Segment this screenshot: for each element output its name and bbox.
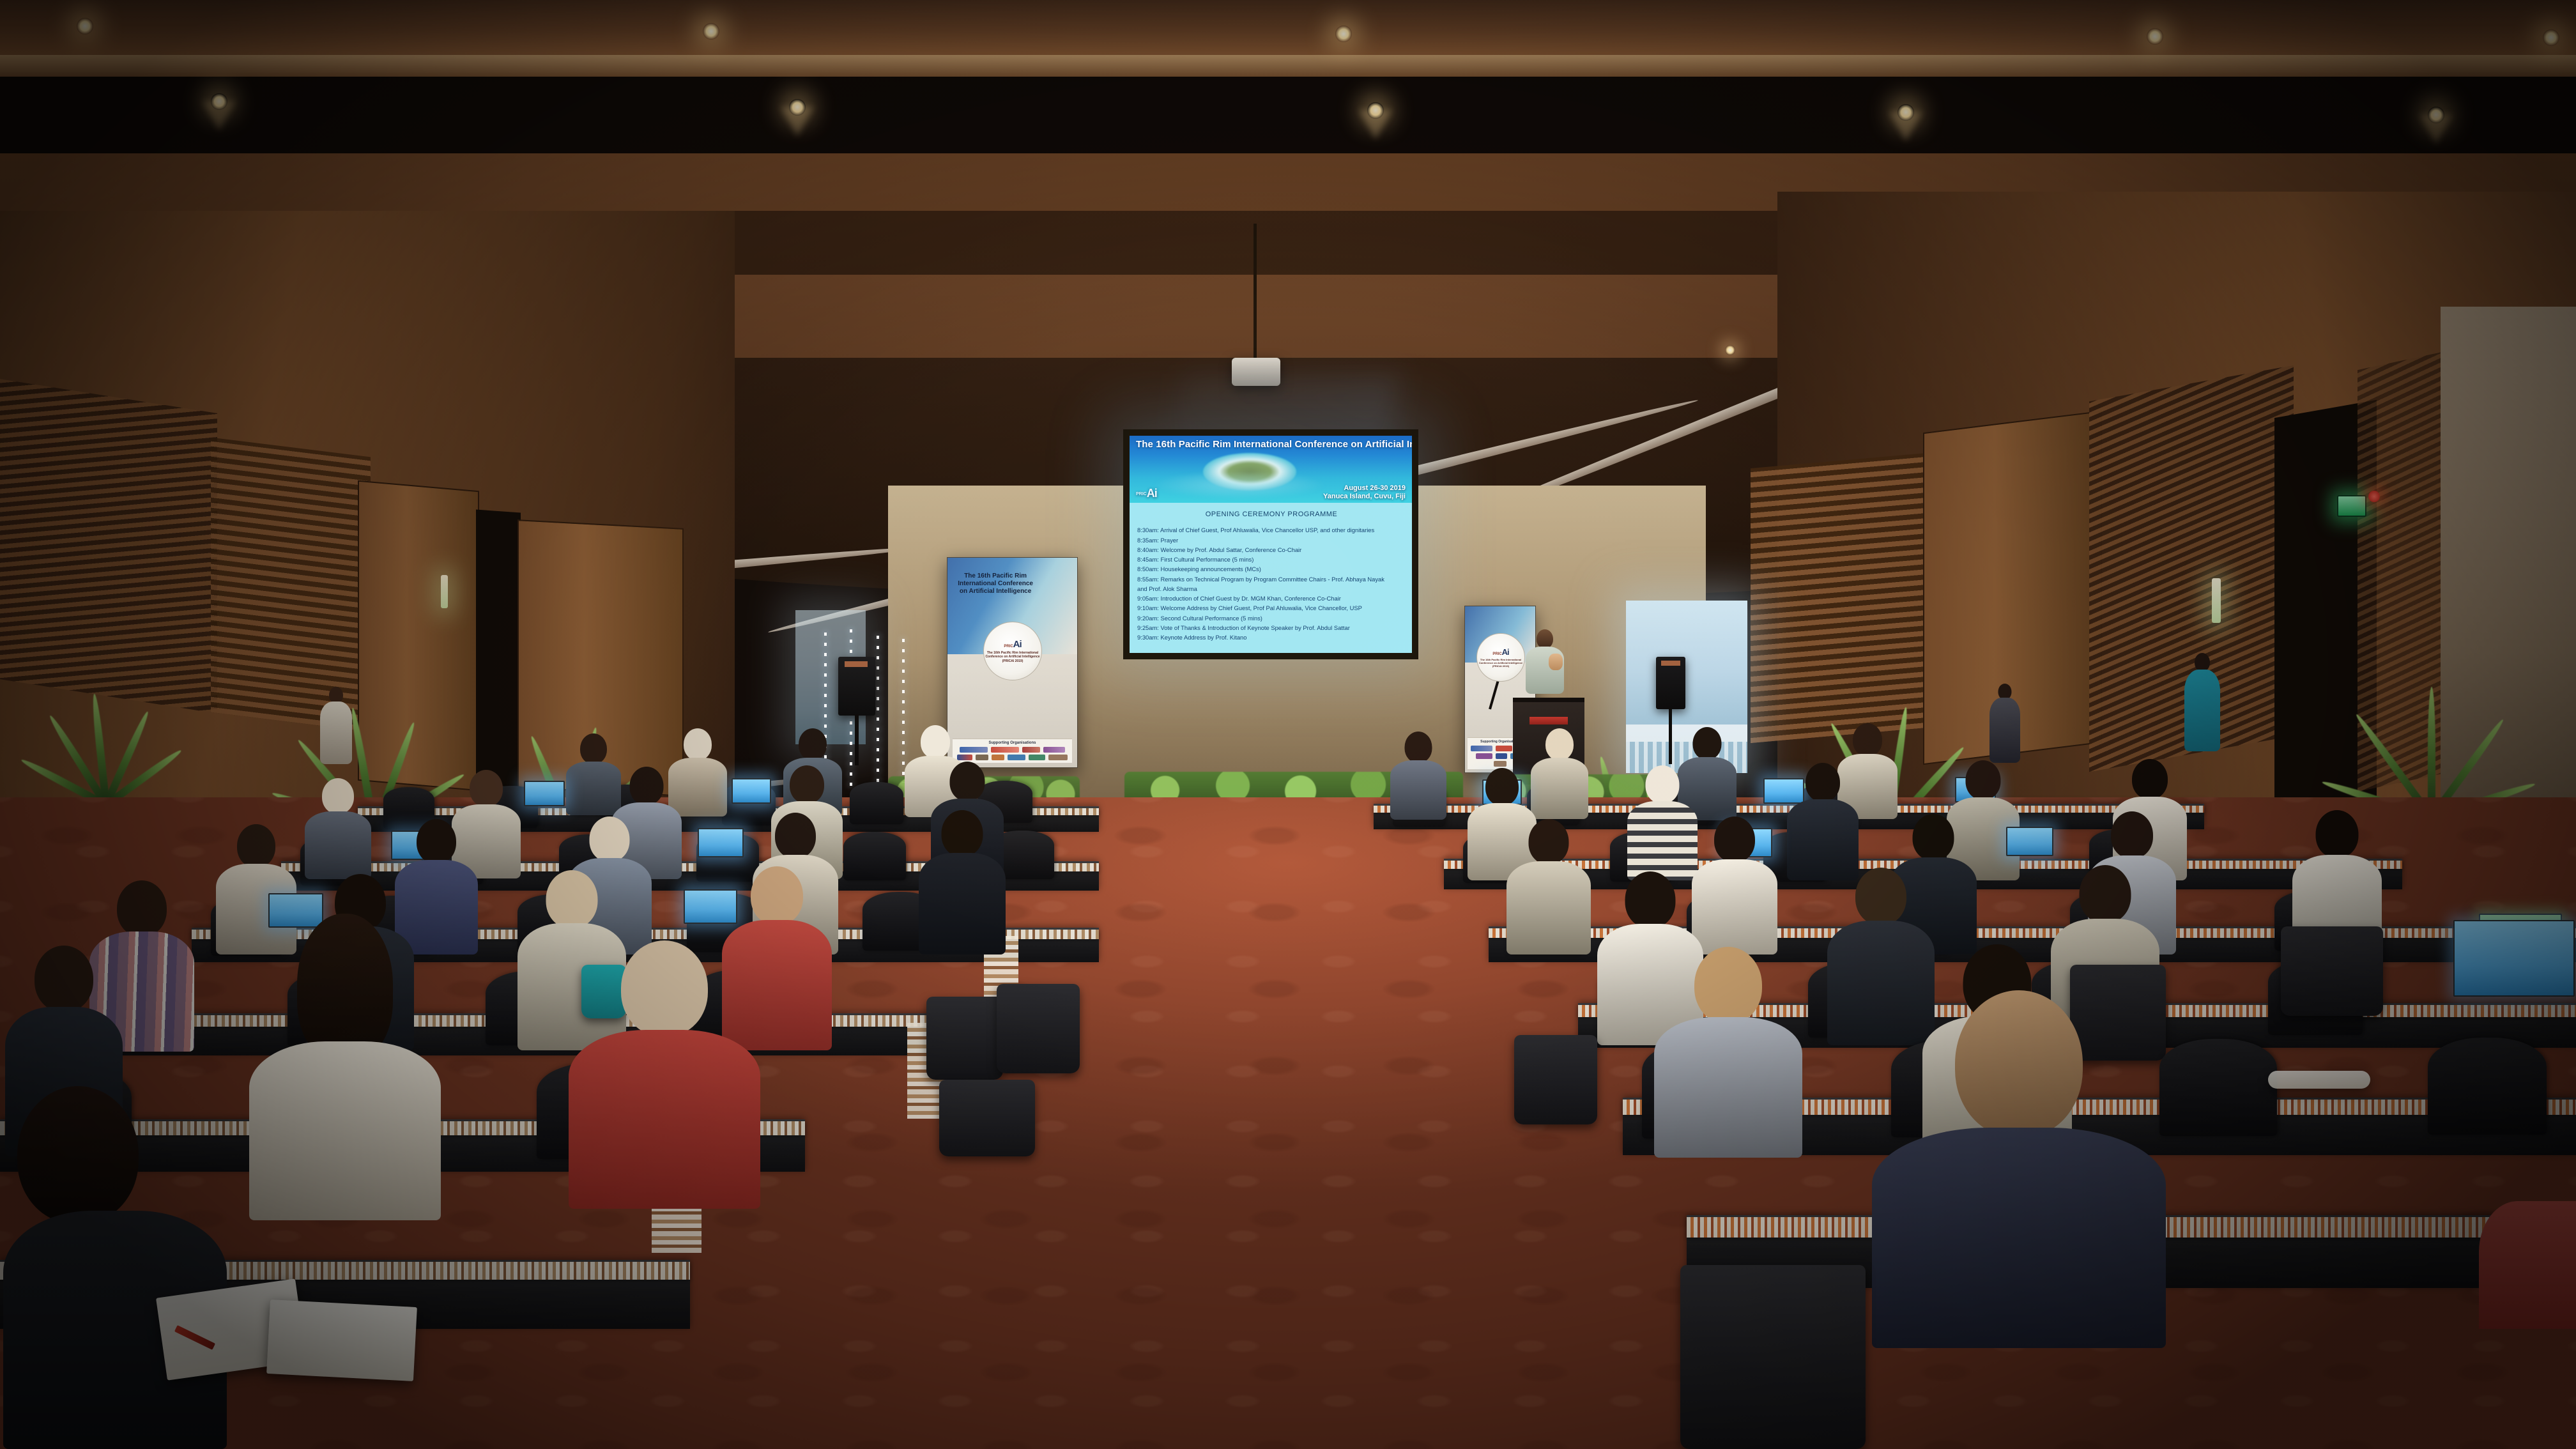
sponsor-logo-unitec — [1043, 747, 1065, 753]
sponsor-logo-fiji-airways — [1496, 746, 1512, 751]
attendee — [562, 940, 767, 1209]
attendee-head — [470, 770, 503, 807]
wall-accent-lamp — [441, 575, 448, 608]
banner-sponsor-block: Supporting Organisations — [953, 739, 1072, 763]
presenter-head — [1537, 629, 1553, 648]
ceiling-downlight — [703, 23, 719, 40]
potted-palm-far-left — [26, 613, 179, 805]
attendee-head — [775, 813, 816, 859]
sponsor-logo-griffith — [1022, 747, 1040, 753]
attendee-head — [297, 914, 393, 1061]
attendee-head — [1955, 990, 2083, 1137]
banner-logo-disc: PRICAi The 16th Pacific Rim Internationa… — [983, 622, 1042, 680]
pricai-logo-mark: Ai — [1013, 639, 1022, 650]
attendee-head — [1646, 765, 1680, 804]
attendee-head — [1529, 819, 1569, 864]
slide-header-band: The 16th Pacific Rim International Confe… — [1130, 436, 1412, 503]
attendee-head — [1855, 868, 1906, 925]
ceiling-downlight — [211, 93, 227, 110]
sponsor-logo-fiji-airways — [991, 747, 1019, 753]
sponsor-logo-tourism-fiji — [1029, 755, 1045, 760]
slide-dates: August 26-30 2019 — [1323, 484, 1406, 493]
attendee-foreground-right — [1866, 990, 2172, 1348]
attendee-head — [2080, 865, 2131, 923]
ceiling-downlight — [2428, 107, 2444, 123]
programme-line: and Prof. Alok Sharma — [1137, 584, 1406, 594]
attendee-head — [1545, 728, 1574, 760]
sponsor-logo-ific — [992, 755, 1004, 760]
attendee — [1501, 819, 1596, 954]
attendee-head — [921, 725, 950, 758]
sponsor-logo-grid — [954, 747, 1071, 760]
sponsor-logo-misc — [1494, 761, 1506, 767]
presenter-raised-hand — [1549, 654, 1563, 670]
sponsor-logo-macquarie — [976, 755, 988, 760]
chair — [2159, 1039, 2277, 1136]
backpack — [939, 1080, 1035, 1156]
sponsors-heading: Supporting Organisations — [954, 741, 1071, 745]
attendee-head — [751, 866, 803, 925]
ceiling-downlight — [1367, 102, 1384, 119]
sponsor-logo-usp — [1471, 746, 1492, 751]
ceiling-downlight — [1335, 26, 1352, 42]
attendee-torso — [305, 811, 371, 879]
attendee — [1648, 947, 1808, 1158]
programme-line: 8:40am: Welcome by Prof. Abdul Sattar, C… — [1137, 545, 1406, 555]
lanyard-badges — [2268, 1071, 2370, 1089]
programme-line: 8:45am: First Cultural Performance (5 mi… — [1137, 555, 1406, 564]
banner-disc-caption: The 16th Pacific Rim International Confe… — [984, 651, 1041, 663]
attendee — [300, 778, 376, 880]
pricai-logo: PRICAi — [1004, 639, 1021, 650]
fire-alarm-light-icon — [2368, 491, 2380, 502]
banner-disc-caption: The 16th Pacific Rim International Confe… — [1477, 658, 1524, 668]
ceiling-upper-band — [0, 0, 2576, 77]
wall-accent-lamp — [2212, 578, 2221, 623]
attendee-torso — [1872, 1128, 2166, 1348]
attendee-head — [1966, 760, 2001, 800]
ceiling-downlight — [1897, 104, 1914, 121]
attendee-head — [237, 824, 275, 868]
attendee-head — [1913, 814, 1954, 861]
attendee-head — [1694, 947, 1762, 1023]
pricai-logo-mark: Ai — [1147, 487, 1157, 500]
slide-event-meta: August 26-30 2019 Yanuca Island, Cuvu, F… — [1323, 484, 1406, 502]
slide-title: The 16th Pacific Rim International Confe… — [1130, 436, 1412, 450]
presenter-at-podium — [1521, 629, 1569, 706]
attendee-head — [1693, 727, 1722, 760]
attendee-head — [1625, 871, 1676, 928]
attendee-head — [2316, 810, 2359, 858]
ceiling-downlight — [2543, 29, 2559, 46]
string-light-strand — [877, 636, 879, 786]
sponsor-logo-misc — [1048, 755, 1068, 760]
attendee — [1782, 763, 1863, 880]
laptop-screen — [524, 781, 565, 806]
slide-location: Yanuca Island, Cuvu, Fiji — [1323, 493, 1406, 501]
attendee-head — [34, 946, 93, 1012]
attendee-torso — [249, 1041, 441, 1220]
conference-hall-photo: The 16th Pacific Rim International Confe… — [0, 0, 2576, 1449]
programme-line: 9:10am: Welcome Address by Chief Guest, … — [1137, 603, 1406, 613]
open-notebook-page — [266, 1299, 417, 1381]
attendee-head — [546, 870, 598, 928]
sponsor-logo-unsw — [1496, 753, 1507, 759]
attendee-head — [799, 728, 827, 760]
standing-attendee-left — [316, 687, 356, 783]
pricai-logo: PRICAi — [1492, 647, 1508, 657]
attendee-torso — [1506, 861, 1591, 954]
attendee-head — [590, 816, 630, 862]
attendee-torso — [320, 701, 352, 764]
attendee-head — [17, 1086, 139, 1223]
exit-sign-icon — [2337, 495, 2366, 517]
attendee-foreground-woman — [243, 914, 447, 1220]
programme-line: 8:30am: Arrival of Chief Guest, Prof Ahl… — [1137, 525, 1406, 535]
potted-palm-far-right — [2326, 613, 2530, 818]
attendee-torso — [1390, 760, 1446, 820]
pricai-logo-mark: Ai — [1502, 647, 1509, 657]
pricai-logo-prefix: PRIC — [1136, 492, 1147, 496]
attendee-head — [621, 940, 708, 1036]
attendee-head — [580, 733, 607, 764]
projection-screen: The 16th Pacific Rim International Confe… — [1123, 429, 1418, 659]
laptop-screen — [2453, 920, 2575, 997]
attendee-head — [1805, 763, 1840, 802]
attendee-head — [630, 767, 664, 805]
laptop-screen — [2006, 827, 2053, 856]
attendee-torso — [1989, 698, 2020, 763]
programme-line: 8:50am: Housekeeping announcements (MCs) — [1137, 564, 1406, 574]
pricai-logo-prefix: PRIC — [1492, 652, 1501, 656]
programme-line: 8:55am: Remarks on Technical Program by … — [1137, 574, 1406, 584]
programme-line: 9:05am: Introduction of Chief Guest by D… — [1137, 594, 1406, 603]
attendee-head — [790, 765, 824, 804]
programme-line: 8:35am: Prayer — [1137, 535, 1406, 545]
backpack — [926, 997, 1003, 1080]
attendee-head — [1405, 732, 1432, 763]
attendee-red-shirt-edge — [2479, 1201, 2576, 1329]
pa-speaker-left-pole — [855, 714, 859, 765]
attendee-head — [1714, 816, 1755, 862]
attendee-head — [684, 728, 712, 760]
attendee — [914, 810, 1011, 954]
pricai-logo: PRICAi — [1136, 487, 1157, 500]
programme-line: 9:25am: Vote of Thanks & Introduction of… — [1137, 623, 1406, 632]
banner-logo-disc: PRICAi The 16th Pacific Rim Internationa… — [1476, 633, 1525, 682]
laptop-screen — [698, 828, 744, 857]
pricai-logo-prefix: PRIC — [1004, 645, 1013, 648]
ceiling-downlight — [789, 99, 806, 116]
attendee-head — [942, 810, 983, 857]
standing-attendee-right-teal — [2181, 653, 2223, 774]
attendee-head — [950, 762, 985, 801]
slide-subtitle: OPENING CEREMONY PROGRAMME — [1137, 510, 1406, 518]
programme-line: 9:30am: Keynote Address by Prof. Kitano — [1137, 632, 1406, 642]
attendee-foreground-notetaker — [0, 1086, 230, 1449]
projector-mount-rod — [1253, 224, 1257, 361]
sponsor-logo-aij — [1008, 755, 1025, 760]
programme-line: 9:20am: Second Cultural Performance (5 m… — [1137, 613, 1406, 623]
backpack — [2281, 926, 2383, 1016]
slide-body: OPENING CEREMONY PROGRAMME 8:30am: Arriv… — [1130, 503, 1412, 653]
ceiling-downlight — [2147, 28, 2163, 45]
attendee-head — [417, 819, 456, 864]
attendee-head — [1853, 723, 1882, 756]
attendee-torso — [1654, 1017, 1802, 1158]
attendee-head — [2132, 759, 2168, 799]
ceiling-downlight — [77, 18, 93, 34]
slide-reef-graphic — [1152, 471, 1327, 499]
attendee — [1386, 732, 1450, 820]
chair — [2428, 1038, 2547, 1135]
pa-speaker-left — [838, 657, 875, 716]
attendee-head — [2195, 653, 2210, 671]
chair — [843, 832, 906, 880]
backpack — [1514, 1035, 1597, 1124]
presentation-slide: The 16th Pacific Rim International Confe… — [1130, 436, 1412, 653]
chair — [850, 782, 903, 824]
backpack-on-floor — [1680, 1265, 1866, 1449]
attendee-head — [2111, 811, 2153, 859]
ceiling-downlight — [1725, 345, 1735, 355]
pa-speaker-badge — [845, 661, 868, 667]
attendee-head — [117, 880, 167, 937]
attendee-torso — [2184, 670, 2220, 751]
laptop-screen — [732, 778, 771, 804]
pa-speaker-badge — [1661, 661, 1680, 666]
sponsor-logo-unitec — [1476, 753, 1492, 759]
backpack — [997, 984, 1080, 1073]
attendee-head — [322, 778, 354, 814]
attendee-head — [1485, 768, 1519, 806]
attendee-torso — [919, 853, 1006, 954]
attendee-torso — [569, 1030, 760, 1209]
banner-title: The 16th Pacific Rim International Confe… — [955, 572, 1036, 596]
